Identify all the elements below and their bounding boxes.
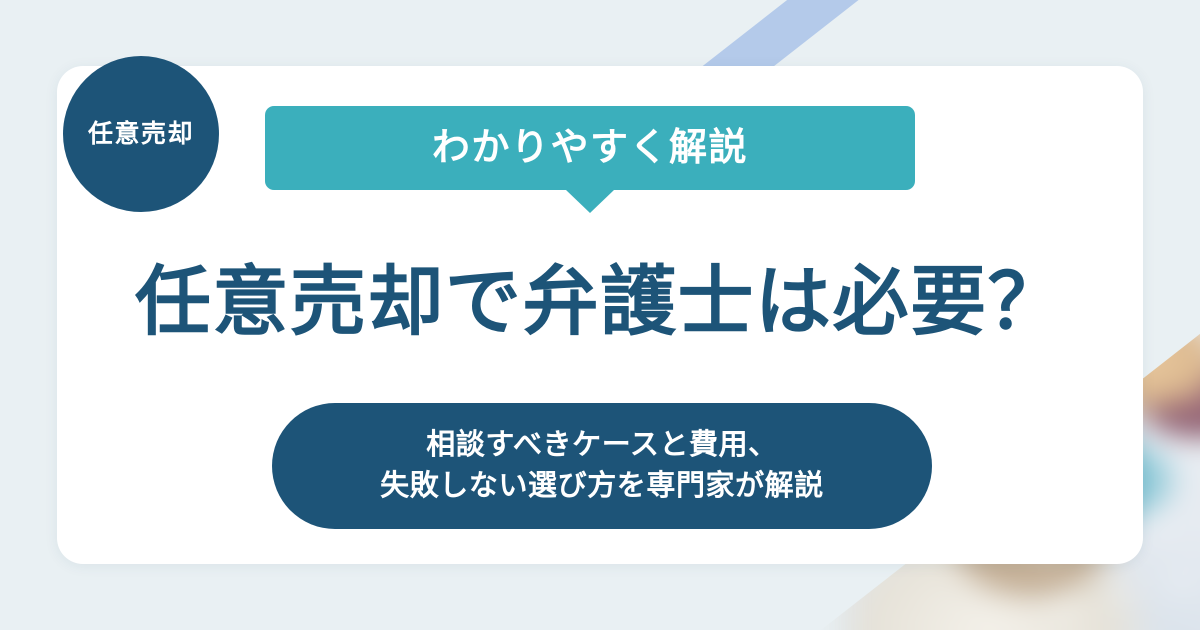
ribbon-tail-triangle xyxy=(566,190,614,213)
eyecatch-banner: 任意売却 わかりやすく解説 任意売却で弁護士は必要？ 相談すべきケースと費用、 … xyxy=(0,0,1200,630)
ribbon-body: わかりやすく解説 xyxy=(265,106,915,190)
subtitle-pill: 相談すべきケースと費用、 失敗しない選び方を専門家が解説 xyxy=(272,403,932,529)
category-badge-label: 任意売却 xyxy=(88,122,194,147)
subtitle-line-1: 相談すべきケースと費用、 xyxy=(426,425,777,466)
ribbon-label: わかりやすく解説 xyxy=(432,129,748,167)
subtitle-line-2: 失敗しない選び方を専門家が解説 xyxy=(380,466,824,507)
page-title: 任意売却で弁護士は必要？ xyxy=(57,260,1143,345)
ribbon-banner: わかりやすく解説 xyxy=(265,106,915,190)
category-badge: 任意売却 xyxy=(63,56,219,212)
page-title-text: 任意売却で弁護士は必要？ xyxy=(135,260,1065,345)
